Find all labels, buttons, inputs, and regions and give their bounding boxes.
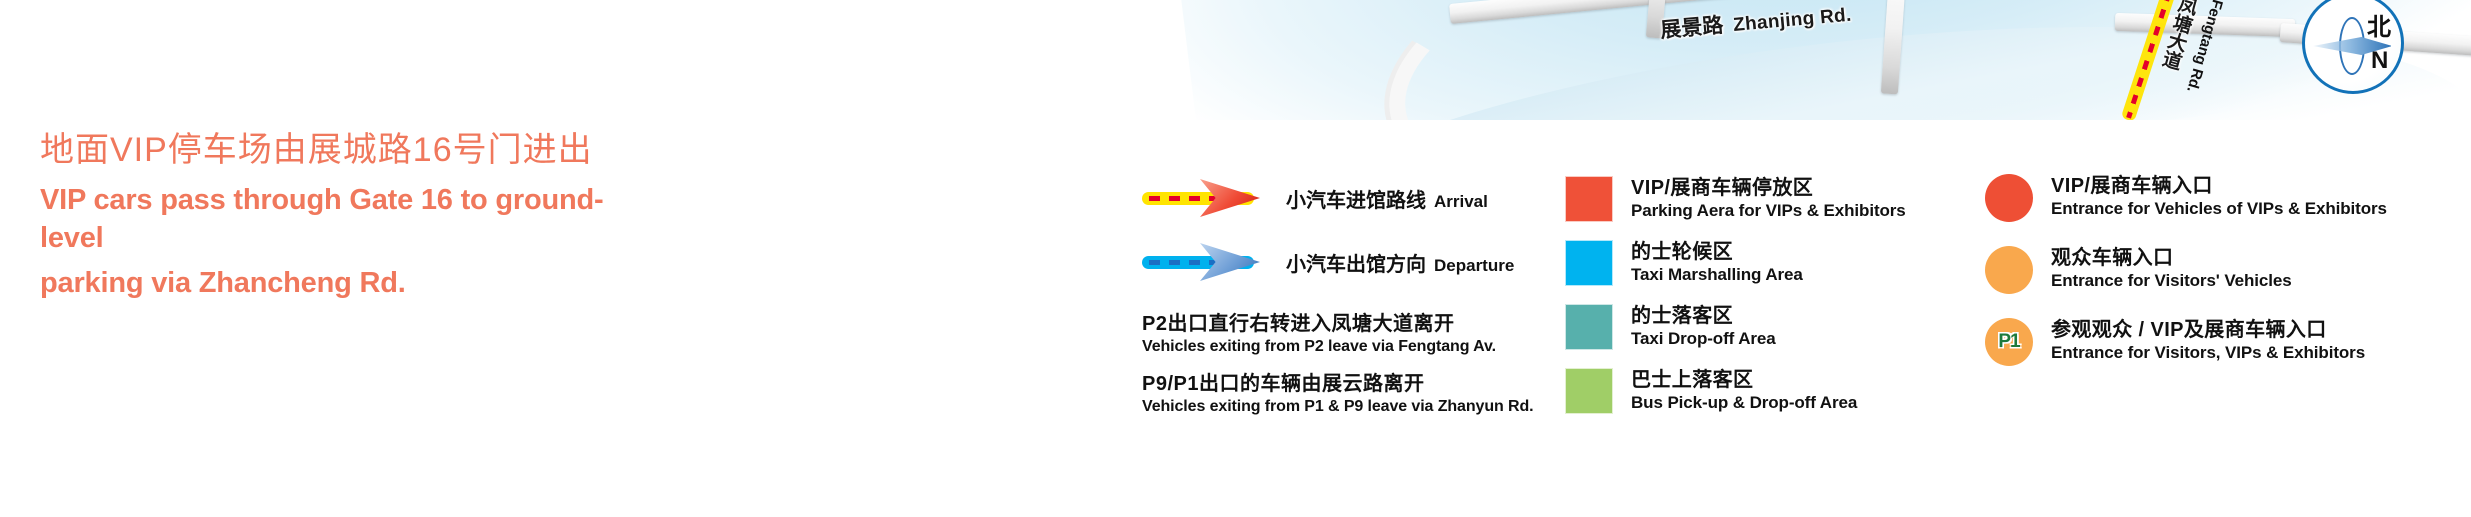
legend-item-vip-parking: VIP/展商车辆停放区 Parking Aera for VIPs & Exhi… — [1565, 176, 1906, 222]
p1-entrance-en: Entrance for Visitors, VIPs & Exhibitors — [2051, 342, 2365, 363]
swatch-taxi-marshalling — [1565, 240, 1613, 286]
area-color-legend: VIP/展商车辆停放区 Parking Aera for VIPs & Exhi… — [1565, 176, 1906, 432]
headline-en-line2: parking via Zhancheng Rd. — [40, 265, 640, 303]
headline-cn: 地面VIP停车场由展城路16号门进出 — [40, 128, 640, 174]
legend-item-arrival: 小汽车进馆路线Arrival — [1142, 178, 1514, 218]
swatch-bus-dropoff-en: Bus Pick-up & Drop-off Area — [1631, 392, 1857, 413]
headline-en-line1: VIP cars pass through Gate 16 to ground-… — [40, 182, 640, 257]
zhanjing-road-cn: 展景路 — [1659, 14, 1724, 42]
arrival-label-cn: 小汽车进馆路线 — [1286, 190, 1426, 212]
swatch-vip-parking-en: Parking Aera for VIPs & Exhibitors — [1631, 200, 1906, 221]
exit-note-p2-cn: P2出口直行右转进入凤塘大道离开 — [1142, 312, 1534, 337]
entrance-legend: VIP/展商车辆入口 Entrance for Vehicles of VIPs… — [1985, 174, 2387, 390]
swatch-taxi-dropoff-text: 的士落客区 Taxi Drop-off Area — [1631, 304, 1776, 349]
p1-badge-label: P1 — [1985, 318, 2033, 366]
compass-label-cn: 北 — [2367, 7, 2391, 42]
departure-arrow-icon — [1142, 247, 1260, 277]
departure-label-en: Departure — [1426, 256, 1514, 275]
exit-note-p9p1-en: Vehicles exiting from P1 & P9 leave via … — [1142, 397, 1534, 418]
headline-block: 地面VIP停车场由展城路16号门进出 VIP cars pass through… — [40, 128, 640, 303]
legend-item-departure: 小汽车出馆方向Departure — [1142, 242, 1514, 282]
swatch-taxi-marshalling-cn: 的士轮候区 — [1631, 240, 1803, 264]
swatch-taxi-dropoff-cn: 的士落客区 — [1631, 304, 1776, 328]
swatch-taxi-dropoff-en: Taxi Drop-off Area — [1631, 328, 1776, 349]
departure-label: 小汽车出馆方向Departure — [1286, 248, 1514, 277]
swatch-bus-dropoff — [1565, 368, 1613, 414]
map-legend-panel: 展景路Zhanjing Rd. 凤塘大道 Fengtang Rd. 北 N 地面… — [0, 0, 2471, 517]
legend-item-taxi-dropoff: 的士落客区 Taxi Drop-off Area — [1565, 304, 1906, 350]
dot-visitor-entrance-icon — [1985, 246, 2033, 294]
swatch-vip-parking-text: VIP/展商车辆停放区 Parking Aera for VIPs & Exhi… — [1631, 176, 1906, 221]
departure-label-cn: 小汽车出馆方向 — [1286, 254, 1426, 276]
dot-p1-entrance-icon: P1 — [1985, 318, 2033, 366]
arrival-arrow-icon — [1142, 183, 1260, 213]
swatch-bus-dropoff-text: 巴士上落客区 Bus Pick-up & Drop-off Area — [1631, 368, 1857, 413]
legend-item-vip-entrance: VIP/展商车辆入口 Entrance for Vehicles of VIPs… — [1985, 174, 2387, 222]
swatch-taxi-dropoff — [1565, 304, 1613, 350]
swatch-vip-parking — [1565, 176, 1613, 222]
swatch-taxi-marshalling-en: Taxi Marshalling Area — [1631, 264, 1803, 285]
exit-note-p9p1: P9/P1出口的车辆由展云路离开 Vehicles exiting from P… — [1142, 372, 1534, 418]
visitor-entrance-cn: 观众车辆入口 — [2051, 246, 2292, 270]
swatch-bus-dropoff-cn: 巴士上落客区 — [1631, 368, 1857, 392]
legend-item-bus-dropoff: 巴士上落客区 Bus Pick-up & Drop-off Area — [1565, 368, 1906, 414]
legend-item-p1-entrance: P1 参观观众 / VIP及展商车辆入口 Entrance for Visito… — [1985, 318, 2387, 366]
visitor-entrance-en: Entrance for Visitors' Vehicles — [2051, 270, 2292, 291]
arrival-label-en: Arrival — [1426, 192, 1488, 211]
dot-vip-entrance-icon — [1985, 174, 2033, 222]
legend-item-visitor-entrance: 观众车辆入口 Entrance for Visitors' Vehicles — [1985, 246, 2387, 294]
swatch-taxi-marshalling-text: 的士轮候区 Taxi Marshalling Area — [1631, 240, 1803, 285]
vip-entrance-cn: VIP/展商车辆入口 — [2051, 174, 2387, 198]
exit-notes: P2出口直行右转进入凤塘大道离开 Vehicles exiting from P… — [1142, 312, 1534, 432]
exit-note-p2: P2出口直行右转进入凤塘大道离开 Vehicles exiting from P… — [1142, 312, 1534, 358]
p1-entrance-text: 参观观众 / VIP及展商车辆入口 Entrance for Visitors,… — [2051, 318, 2365, 363]
map-strip: 展景路Zhanjing Rd. 凤塘大道 Fengtang Rd. 北 N — [0, 0, 2471, 120]
p1-entrance-cn: 参观观众 / VIP及展商车辆入口 — [2051, 318, 2365, 342]
vip-entrance-en: Entrance for Vehicles of VIPs & Exhibito… — [2051, 198, 2387, 219]
visitor-entrance-text: 观众车辆入口 Entrance for Visitors' Vehicles — [2051, 246, 2292, 291]
swatch-vip-parking-cn: VIP/展商车辆停放区 — [1631, 176, 1906, 200]
exit-note-p2-en: Vehicles exiting from P2 leave via Fengt… — [1142, 337, 1534, 358]
exit-note-p9p1-cn: P9/P1出口的车辆由展云路离开 — [1142, 372, 1534, 397]
legend-item-taxi-marshalling: 的士轮候区 Taxi Marshalling Area — [1565, 240, 1906, 286]
compass-label-en: N — [2371, 47, 2388, 75]
vip-entrance-text: VIP/展商车辆入口 Entrance for Vehicles of VIPs… — [2051, 174, 2387, 219]
arrow-legend: 小汽车进馆路线Arrival 小汽车出馆方向Departure — [1142, 178, 1514, 306]
arrival-label: 小汽车进馆路线Arrival — [1286, 184, 1488, 213]
